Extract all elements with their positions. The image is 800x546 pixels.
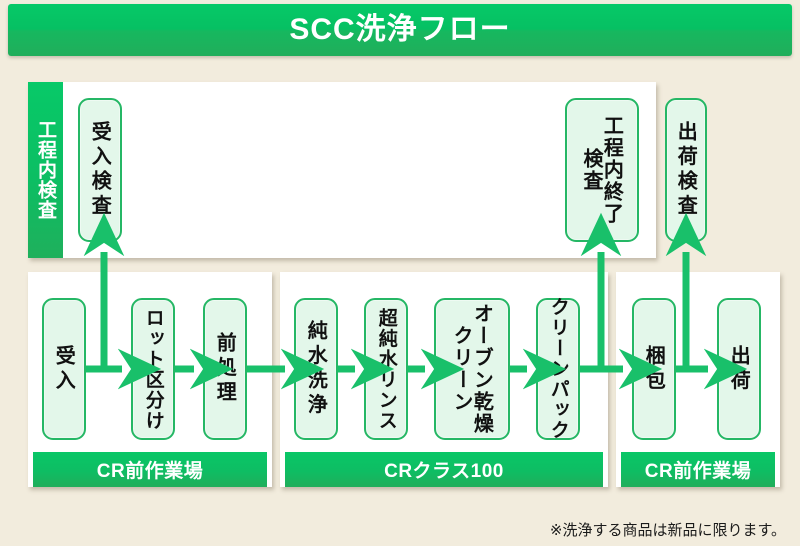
flow-step-label: 梱包: [644, 345, 664, 394]
footnote: ※洗浄する商品は新品に限ります。: [550, 519, 786, 540]
inspection-sidebar-label: 工程内検査: [36, 120, 55, 220]
flow-step-label: 前処理: [215, 332, 235, 406]
inspection-box-shipping-inspection[interactable]: 出荷検査: [665, 98, 707, 242]
flow-step-label: ロット区分け: [143, 308, 162, 431]
page-header: SCC洗浄フロー: [8, 4, 792, 56]
flow-step-clean-oven-dry[interactable]: オーブン乾燥 クリーン: [434, 298, 510, 440]
flow-step-receiving[interactable]: 受入: [42, 298, 86, 440]
flow-step-ultrapure-water-rinse[interactable]: 超純水リンス: [364, 298, 408, 440]
flow-step-label: クリーンパック: [548, 297, 567, 441]
inspection-box-process-final-inspection[interactable]: 工程内終了 検査: [565, 98, 639, 242]
flow-group-bar-pre-cr-2: CR前作業場: [621, 452, 775, 487]
flow-step-label-col1: オーブン乾燥: [472, 303, 492, 435]
flow-step-clean-pack[interactable]: クリーンパック: [536, 298, 580, 440]
inspection-sidebar: 工程内検査: [28, 82, 63, 258]
inspection-box-incoming-inspection[interactable]: 受入検査: [78, 98, 122, 242]
flow-group-bar-label: CRクラス100: [384, 456, 504, 483]
flow-step-pure-water-wash[interactable]: 純水洗浄: [294, 298, 338, 440]
flow-group-bar-cr-class-100: CRクラス100: [285, 452, 603, 487]
flow-group-bar-label: CR前作業場: [97, 456, 203, 483]
flow-step-pre-treatment[interactable]: 前処理: [203, 298, 247, 440]
inspection-box-label: 受入検査: [90, 121, 110, 219]
diagram-canvas: SCC洗浄フロー 工程内検査 受入検査 工程内終了 検査 出荷検査 受入 ロット…: [0, 0, 800, 546]
flow-step-lot-sorting[interactable]: ロット区分け: [131, 298, 175, 440]
flow-step-label: 出荷: [729, 345, 749, 394]
flow-step-label: 受入: [54, 345, 74, 394]
inspection-box-label: 出荷検査: [676, 121, 696, 219]
inspection-panel: [28, 82, 656, 258]
flow-group-bar-pre-cr-1: CR前作業場: [33, 452, 267, 487]
flow-step-label: 純水洗浄: [306, 320, 326, 418]
page-title: SCC洗浄フロー: [289, 15, 510, 45]
inspection-box-label-col2: 検査: [582, 148, 602, 192]
flow-step-label: 超純水リンス: [376, 308, 395, 431]
inspection-box-label-col1: 工程内終了: [602, 115, 622, 225]
flow-step-label-col2: クリーン: [452, 325, 472, 413]
flow-step-shipping[interactable]: 出荷: [717, 298, 761, 440]
flow-step-packing[interactable]: 梱包: [632, 298, 676, 440]
flow-group-bar-label: CR前作業場: [645, 456, 751, 483]
